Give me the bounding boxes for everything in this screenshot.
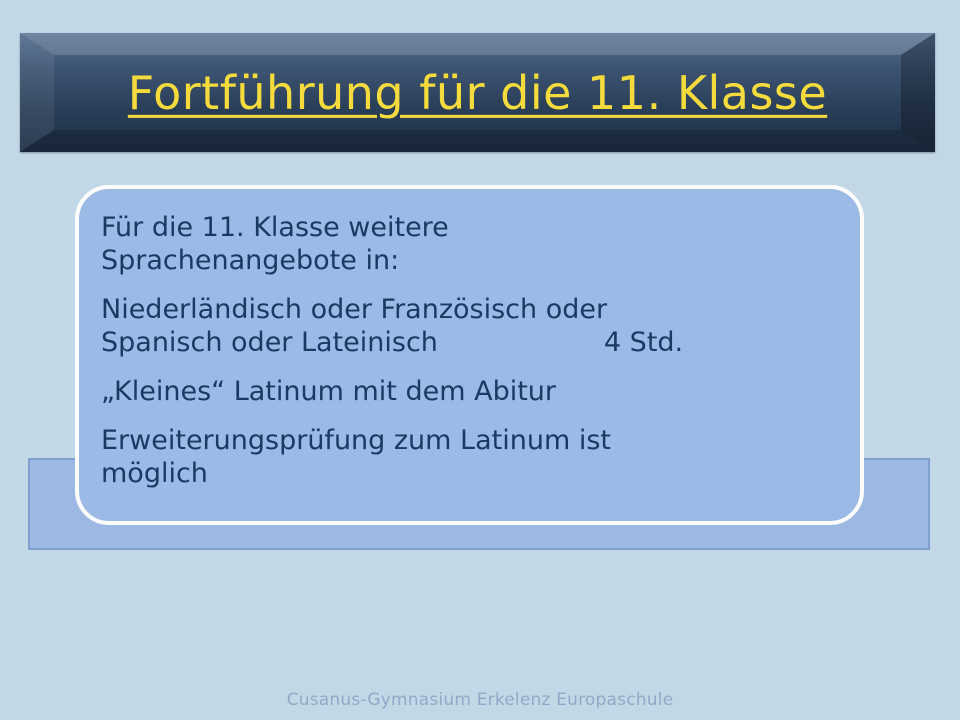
- bullet-1-line-1: Für die 11. Klasse weitere: [101, 211, 834, 244]
- list-item: Erweiterungsprüfung zum Latinum ist mögl…: [101, 424, 834, 490]
- bullet-2-line-1: Niederländisch oder Französisch oder: [101, 293, 834, 326]
- bullet-3-line-1: „Kleines“ Latinum mit dem Abitur: [101, 375, 834, 408]
- bullet-2-line-2-text: Spanisch oder Lateinisch: [101, 326, 438, 359]
- list-item: „Kleines“ Latinum mit dem Abitur: [101, 375, 834, 408]
- bullet-2-hours-value: 4 Std.: [604, 326, 683, 359]
- slide-title-banner: Fortführung für die 11. Klasse: [20, 33, 935, 152]
- bullet-4-line-1: Erweiterungsprüfung zum Latinum ist: [101, 424, 834, 457]
- list-item: Niederländisch oder Französisch oder Spa…: [101, 293, 834, 359]
- bullet-2-line-2: Spanisch oder Lateinisch 4 Std.: [101, 326, 834, 359]
- bullet-4-line-2: möglich: [101, 457, 834, 490]
- content-box: Für die 11. Klasse weitere Sprachenangeb…: [75, 185, 864, 525]
- bullet-1-line-2: Sprachenangebote in:: [101, 244, 834, 277]
- slide-title: Fortführung für die 11. Klasse: [20, 68, 935, 116]
- list-item: Für die 11. Klasse weitere Sprachenangeb…: [101, 211, 834, 277]
- slide-footer: Cusanus-Gymnasium Erkelenz Europaschule: [0, 690, 960, 710]
- bullet-list: Für die 11. Klasse weitere Sprachenangeb…: [101, 211, 834, 490]
